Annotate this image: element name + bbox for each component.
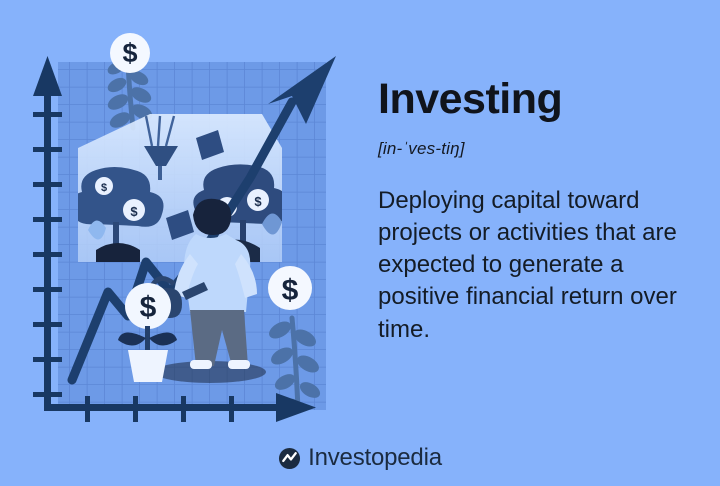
- svg-text:$: $: [101, 182, 107, 194]
- definition-graphic: $ $: [0, 0, 720, 486]
- brand-name: Investopedia: [308, 446, 442, 470]
- page-title: Investing: [378, 78, 704, 121]
- svg-text:$: $: [130, 204, 138, 219]
- coin-right: $: [268, 266, 312, 310]
- investing-growth-illustration: $ $: [0, 0, 360, 440]
- investopedia-circle-zigzag-icon: [278, 447, 301, 470]
- coin-top-left: $: [110, 33, 150, 73]
- svg-text:$: $: [254, 194, 262, 209]
- svg-text:$: $: [140, 291, 157, 324]
- y-axis-arrow: [33, 56, 62, 410]
- text-panel: Investing [in-ˈves-tiŋ] Deploying capita…: [374, 78, 704, 346]
- svg-text:$: $: [122, 38, 137, 68]
- pronunciation-text: [in-ˈves-tiŋ]: [378, 139, 704, 159]
- greenhouse: $ $ $ $: [70, 114, 288, 264]
- svg-text:$: $: [282, 274, 299, 307]
- definition-text: Deploying capital toward projects or act…: [378, 185, 704, 346]
- investopedia-logo: Investopedia: [0, 446, 720, 470]
